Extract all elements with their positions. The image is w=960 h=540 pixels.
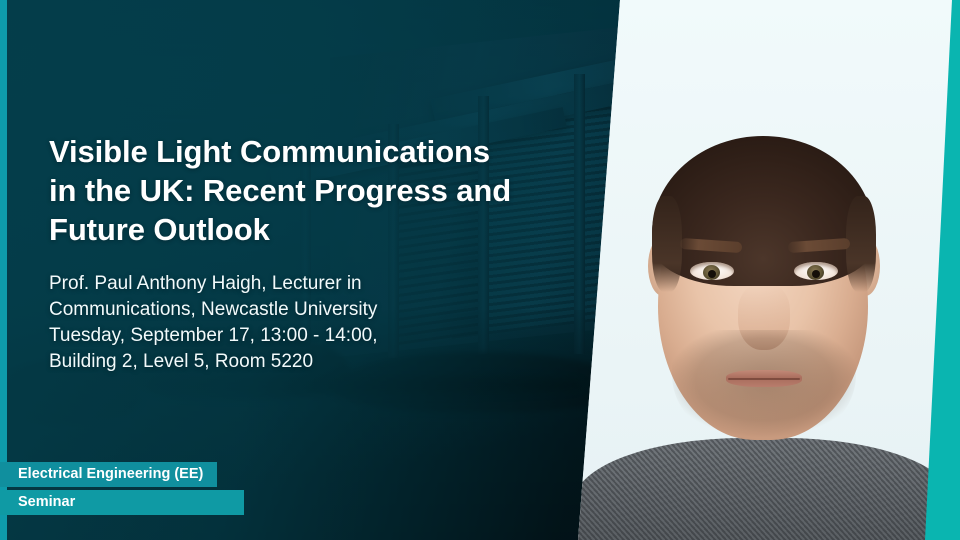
- portrait-iris-left: [703, 265, 720, 280]
- speaker-portrait-photo: [560, 0, 960, 540]
- speaker-and-event-details: Prof. Paul Anthony Haigh, Lecturer in Co…: [49, 271, 589, 375]
- badge-group: Electrical Engineering (EE) Seminar: [0, 462, 244, 515]
- page-title: Visible Light Communications in the UK: …: [49, 132, 589, 249]
- portrait-hair-side-left: [652, 196, 682, 292]
- status-badge-type: Seminar: [0, 490, 244, 515]
- status-badge-category: Electrical Engineering (EE): [0, 462, 217, 487]
- speaker-portrait-panel: [560, 0, 960, 540]
- portrait-eye-left: [690, 262, 734, 280]
- seminar-announcement-slide: Visible Light Communications in the UK: …: [0, 0, 960, 540]
- slide-text-block: Visible Light Communications in the UK: …: [49, 132, 589, 375]
- portrait-iris-right: [807, 265, 824, 280]
- left-accent-bar: [0, 0, 7, 540]
- portrait-beard-stubble: [672, 330, 856, 448]
- portrait-lip-line: [728, 378, 800, 380]
- portrait-hair: [652, 136, 874, 286]
- portrait-pupil-right: [812, 270, 820, 278]
- portrait-hair-side-right: [846, 196, 876, 292]
- portrait-pupil-left: [708, 270, 716, 278]
- portrait-eye-right: [794, 262, 838, 280]
